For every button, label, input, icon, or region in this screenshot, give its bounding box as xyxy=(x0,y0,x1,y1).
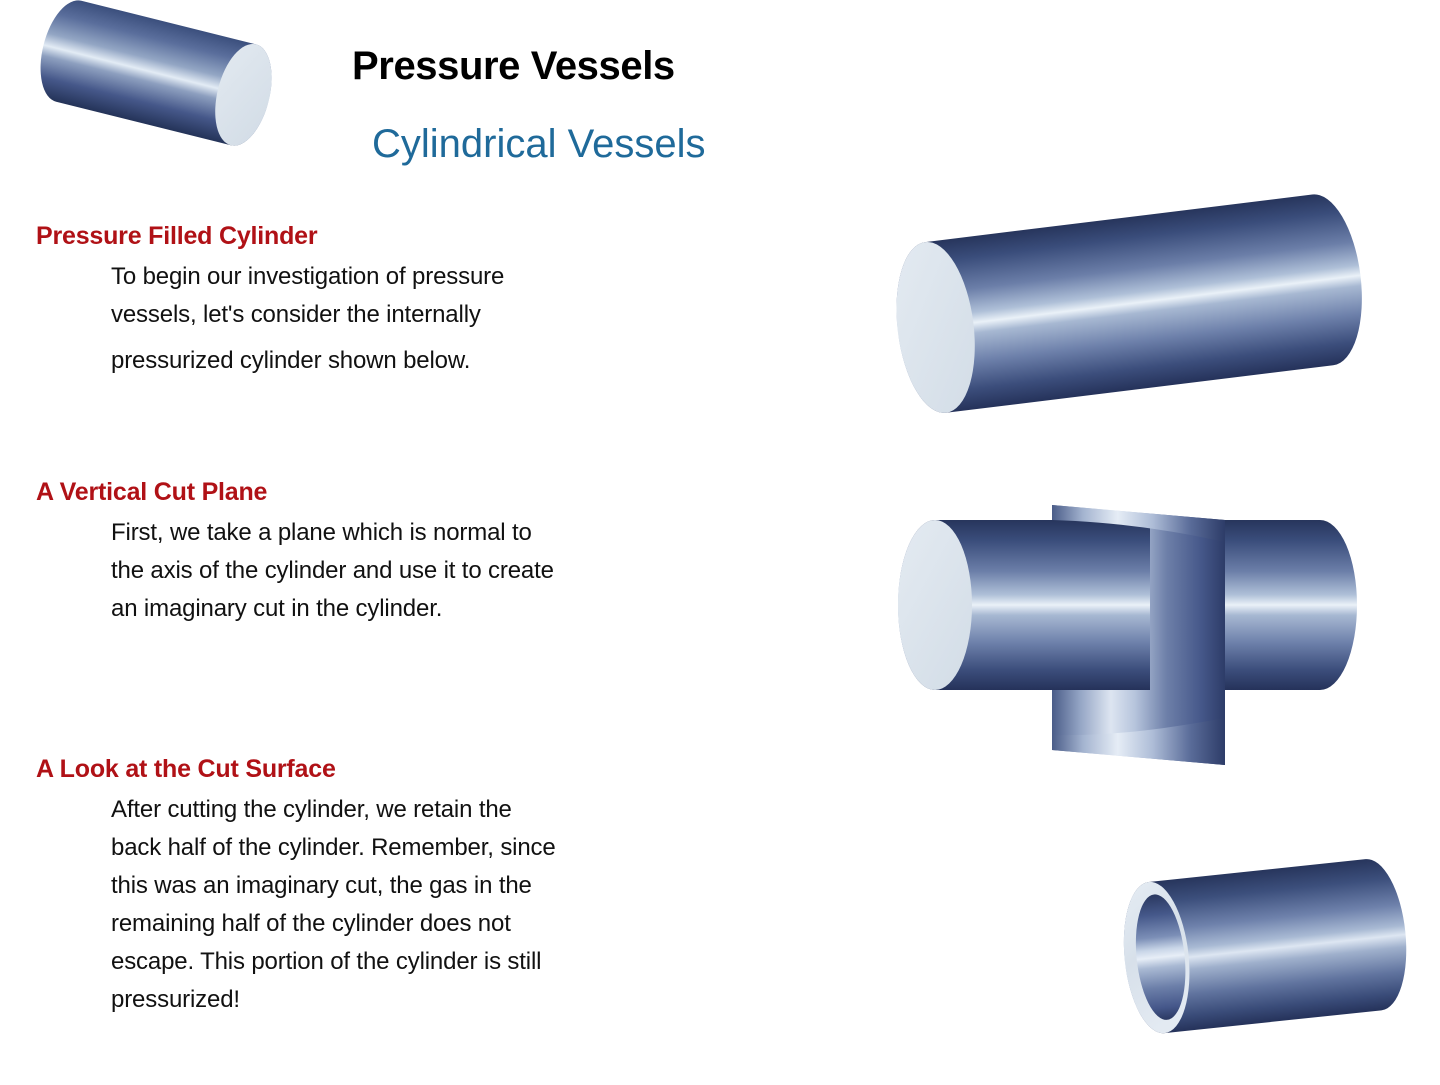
body-line: pressurized cylinder shown below. xyxy=(111,342,711,380)
body-line: back half of the cylinder. Remember, sin… xyxy=(111,829,711,867)
section-body: After cutting the cylinder, we retain th… xyxy=(111,791,711,1019)
section-body: First, we take a plane which is normal t… xyxy=(111,514,711,628)
solid-cylinder-figure xyxy=(855,185,1415,435)
body-line: remaining half of the cylinder does not xyxy=(111,905,711,943)
cylinder-logo-icon xyxy=(0,0,324,172)
body-line: vessels, let's consider the internally xyxy=(111,296,711,334)
body-line: escape. This portion of the cylinder is … xyxy=(111,943,711,981)
hollow-tube-figure xyxy=(1095,830,1440,1080)
body-line: an imaginary cut in the cylinder. xyxy=(111,590,711,628)
section-heading: Pressure Filled Cylinder xyxy=(36,222,317,251)
body-line: After cutting the cylinder, we retain th… xyxy=(111,791,711,829)
page-subtitle: Cylindrical Vessels xyxy=(372,122,705,167)
body-line: First, we take a plane which is normal t… xyxy=(111,514,711,552)
body-line: the axis of the cylinder and use it to c… xyxy=(111,552,711,590)
page-title: Pressure Vessels xyxy=(352,44,675,89)
body-line: pressurized! xyxy=(111,981,711,1019)
body-line: this was an imaginary cut, the gas in th… xyxy=(111,867,711,905)
section-heading: A Look at the Cut Surface xyxy=(36,755,336,784)
section-body: To begin our investigation of pressure v… xyxy=(111,258,711,380)
section-heading: A Vertical Cut Plane xyxy=(36,478,267,507)
body-line: To begin our investigation of pressure xyxy=(111,258,711,296)
cylinder-with-cut-plane-figure xyxy=(860,480,1435,780)
